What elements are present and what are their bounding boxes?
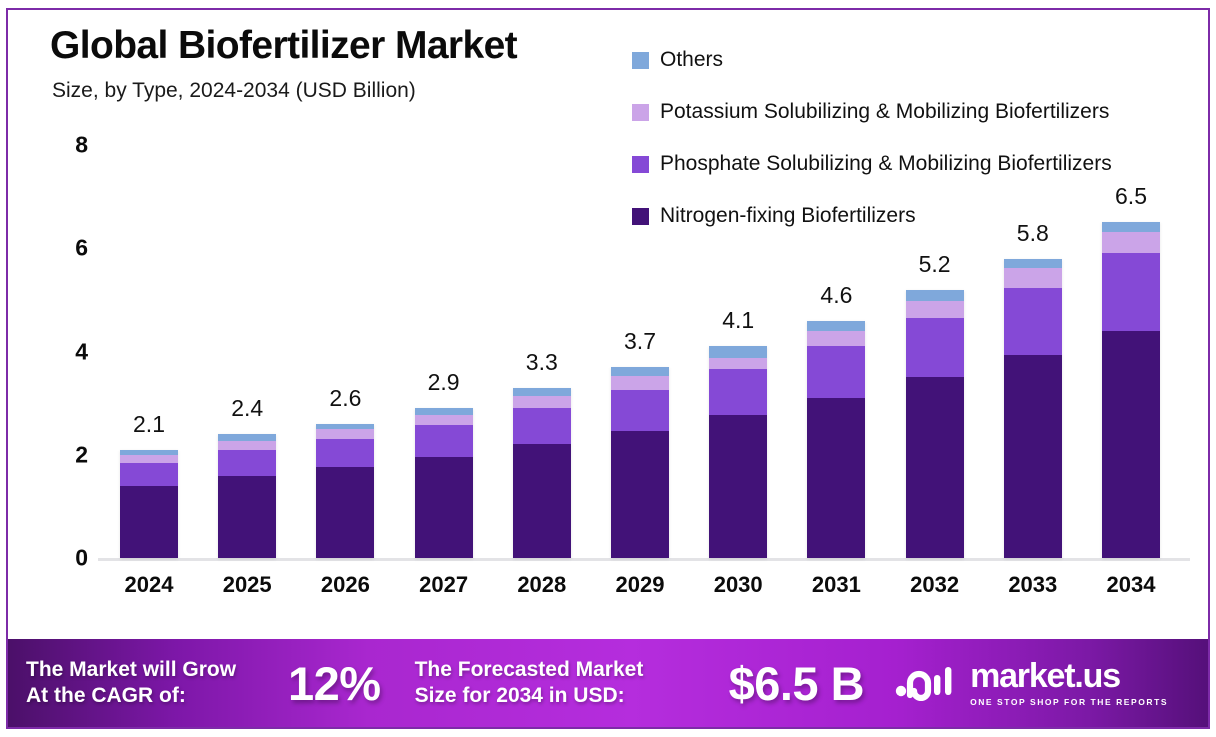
bar-segment[interactable] bbox=[513, 396, 571, 408]
bar-segment[interactable] bbox=[1004, 259, 1062, 269]
cagr-value: 12% bbox=[288, 656, 381, 711]
bar-group-2028[interactable]: 3.32028 bbox=[513, 388, 571, 558]
bar-segment[interactable] bbox=[1004, 288, 1062, 355]
bar-segment[interactable] bbox=[807, 321, 865, 331]
stacked-bar[interactable] bbox=[415, 408, 473, 558]
x-axis-tick-label: 2033 bbox=[1008, 572, 1057, 598]
x-axis-tick-label: 2029 bbox=[616, 572, 665, 598]
bar-segment[interactable] bbox=[415, 457, 473, 558]
bar-group-2030[interactable]: 4.12030 bbox=[709, 346, 767, 558]
bar-segment[interactable] bbox=[611, 367, 669, 376]
stacked-bar[interactable] bbox=[513, 388, 571, 558]
bar-segment[interactable] bbox=[807, 346, 865, 398]
x-axis-tick-label: 2026 bbox=[321, 572, 370, 598]
x-axis-tick-label: 2031 bbox=[812, 572, 861, 598]
bar-value-label: 5.8 bbox=[1017, 220, 1049, 247]
market-us-logomark-icon bbox=[894, 661, 960, 706]
logo-wordmark: market.us ONE STOP SHOP FOR THE REPORTS bbox=[970, 659, 1168, 707]
bar-group-2029[interactable]: 3.72029 bbox=[611, 367, 669, 558]
logo-tagline: ONE STOP SHOP FOR THE REPORTS bbox=[970, 697, 1168, 707]
bar-segment[interactable] bbox=[1004, 355, 1062, 558]
bar-segment[interactable] bbox=[218, 476, 276, 558]
bar-value-label: 2.6 bbox=[329, 385, 361, 412]
bar-segment[interactable] bbox=[218, 434, 276, 441]
stacked-bar[interactable] bbox=[807, 321, 865, 558]
bar-segment[interactable] bbox=[611, 376, 669, 389]
bar-segment[interactable] bbox=[316, 429, 374, 438]
bar-group-2031[interactable]: 4.62031 bbox=[807, 321, 865, 558]
stacked-bar[interactable] bbox=[611, 367, 669, 558]
bar-segment[interactable] bbox=[1102, 253, 1160, 330]
logo-name: market.us bbox=[970, 659, 1168, 693]
bar-segment[interactable] bbox=[513, 444, 571, 558]
x-axis-tick-label: 2025 bbox=[223, 572, 272, 598]
bar-group-2024[interactable]: 2.12024 bbox=[120, 450, 178, 558]
summary-banner: The Market will Grow At the CAGR of: 12%… bbox=[8, 639, 1208, 727]
bar-value-label: 4.1 bbox=[722, 307, 754, 334]
stacked-bar[interactable] bbox=[218, 434, 276, 558]
bar-value-label: 6.5 bbox=[1115, 183, 1147, 210]
infographic-root: Global Biofertilizer Market Size, by Typ… bbox=[0, 0, 1216, 737]
bar-segment[interactable] bbox=[316, 467, 374, 558]
bar-segment[interactable] bbox=[120, 463, 178, 486]
bar-value-label: 5.2 bbox=[919, 251, 951, 278]
bar-group-2034[interactable]: 6.52034 bbox=[1102, 222, 1160, 558]
bar-group-2026[interactable]: 2.62026 bbox=[316, 424, 374, 558]
bar-segment[interactable] bbox=[906, 318, 964, 377]
bar-segment[interactable] bbox=[1102, 222, 1160, 231]
x-axis-tick-label: 2028 bbox=[517, 572, 566, 598]
bar-segment[interactable] bbox=[906, 301, 964, 319]
bar-segment[interactable] bbox=[906, 377, 964, 558]
bar-value-label: 3.3 bbox=[526, 349, 558, 376]
forecast-value: $6.5 B bbox=[729, 656, 864, 711]
bar-segment[interactable] bbox=[1102, 232, 1160, 254]
x-axis-tick-label: 2030 bbox=[714, 572, 763, 598]
market-us-logo[interactable]: market.us ONE STOP SHOP FOR THE REPORTS bbox=[894, 659, 1168, 707]
cagr-caption: The Market will Grow At the CAGR of: bbox=[26, 657, 288, 708]
forecast-caption: The Forecasted Market Size for 2034 in U… bbox=[415, 657, 715, 708]
bar-segment[interactable] bbox=[807, 331, 865, 346]
bar-segment[interactable] bbox=[120, 486, 178, 558]
bar-segment[interactable] bbox=[316, 439, 374, 467]
bar-value-label: 4.6 bbox=[820, 282, 852, 309]
bar-segment[interactable] bbox=[611, 390, 669, 431]
bar-segment[interactable] bbox=[807, 398, 865, 558]
bar-segment[interactable] bbox=[611, 431, 669, 559]
bar-segment[interactable] bbox=[1102, 331, 1160, 558]
bar-segment[interactable] bbox=[120, 455, 178, 462]
stacked-bar[interactable] bbox=[1102, 222, 1160, 558]
chart-plot-area: 02468 2.120242.420252.620262.920273.3202… bbox=[0, 0, 1216, 620]
bar-group-2033[interactable]: 5.82033 bbox=[1004, 259, 1062, 558]
bar-segment[interactable] bbox=[1004, 268, 1062, 288]
bar-segment[interactable] bbox=[513, 408, 571, 444]
x-axis-tick-label: 2024 bbox=[125, 572, 174, 598]
bar-segment[interactable] bbox=[218, 450, 276, 476]
bar-segment[interactable] bbox=[415, 415, 473, 425]
x-axis-tick-label: 2034 bbox=[1107, 572, 1156, 598]
bar-segment[interactable] bbox=[709, 358, 767, 369]
bar-value-label: 2.9 bbox=[428, 369, 460, 396]
bar-segment[interactable] bbox=[415, 425, 473, 457]
bar-group-2032[interactable]: 5.22032 bbox=[906, 290, 964, 558]
stacked-bar[interactable] bbox=[1004, 259, 1062, 558]
bar-value-label: 3.7 bbox=[624, 328, 656, 355]
bars-layer: 2.120242.420252.620262.920273.320283.720… bbox=[0, 0, 1216, 620]
bar-segment[interactable] bbox=[513, 388, 571, 397]
bar-group-2027[interactable]: 2.92027 bbox=[415, 408, 473, 558]
stacked-bar[interactable] bbox=[120, 450, 178, 558]
bar-value-label: 2.4 bbox=[231, 395, 263, 422]
bar-group-2025[interactable]: 2.42025 bbox=[218, 434, 276, 558]
stacked-bar[interactable] bbox=[709, 346, 767, 558]
bar-segment[interactable] bbox=[709, 369, 767, 415]
bar-segment[interactable] bbox=[906, 290, 964, 301]
bar-segment[interactable] bbox=[709, 415, 767, 558]
stacked-bar[interactable] bbox=[906, 290, 964, 558]
x-axis-tick-label: 2032 bbox=[910, 572, 959, 598]
stacked-bar[interactable] bbox=[316, 424, 374, 558]
x-axis-tick-label: 2027 bbox=[419, 572, 468, 598]
bar-value-label: 2.1 bbox=[133, 411, 165, 438]
bar-segment[interactable] bbox=[709, 346, 767, 358]
bar-segment[interactable] bbox=[218, 441, 276, 450]
